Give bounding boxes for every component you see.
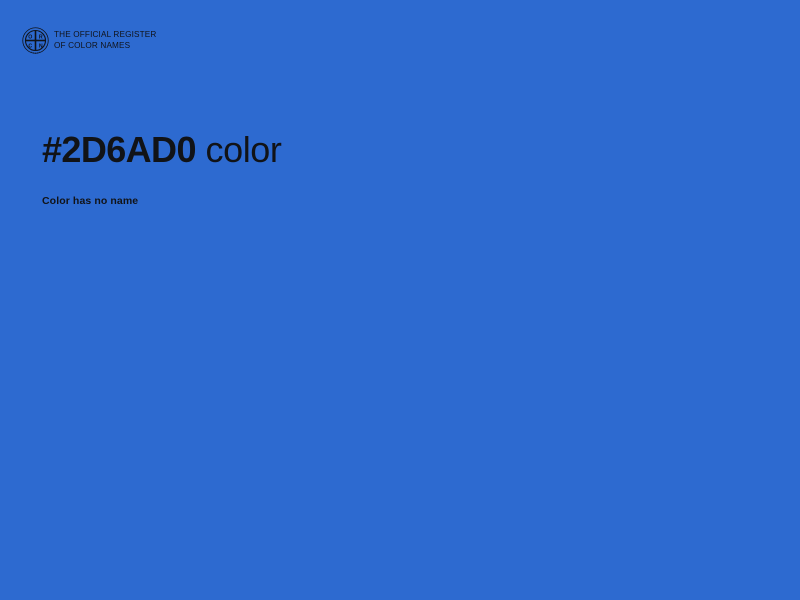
brand-name-line-2: OF COLOR NAMES xyxy=(54,41,156,51)
brand-name-line-1: THE OFFICIAL REGISTER xyxy=(54,30,156,40)
color-info-block: #2D6AD0 color Color has no name xyxy=(42,126,742,208)
brand-name: THE OFFICIAL REGISTER OF COLOR NAMES xyxy=(54,30,156,50)
svg-text:N: N xyxy=(39,44,43,50)
brand-lockup[interactable]: O R C N THE OFFICIAL REGISTER OF COLOR N… xyxy=(22,27,156,54)
official-register-seal-icon: O R C N xyxy=(22,27,49,54)
color-name-status: Color has no name xyxy=(42,174,742,208)
color-hex-value: #2D6AD0 xyxy=(42,129,196,170)
svg-text:O: O xyxy=(28,35,32,41)
page-title: #2D6AD0 color xyxy=(42,126,742,174)
color-page: O R C N THE OFFICIAL REGISTER OF COLOR N… xyxy=(0,0,800,600)
svg-text:R: R xyxy=(39,35,43,41)
svg-text:C: C xyxy=(28,44,32,50)
page-title-suffix: color xyxy=(196,129,282,170)
